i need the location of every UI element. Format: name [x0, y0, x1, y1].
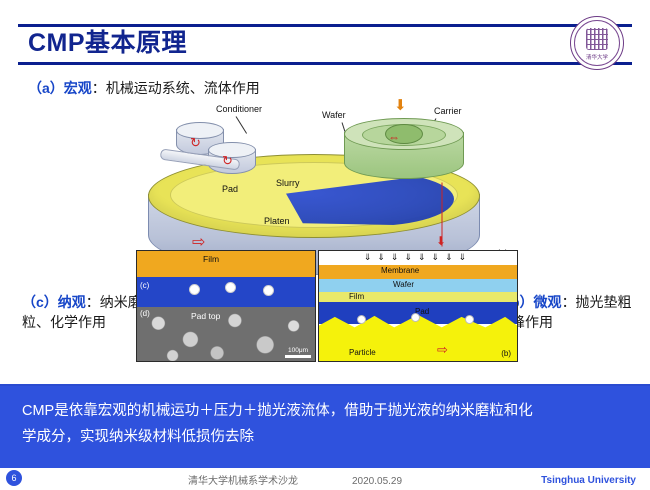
tsinghua-seal-icon: 清华大学	[570, 16, 624, 70]
panel-d-tag: (d)	[140, 309, 150, 318]
footer-university: Tsinghua University	[541, 475, 636, 486]
slurry-label: Slurry	[276, 178, 300, 188]
abrasive-particle	[411, 313, 420, 322]
down-force-arrow-icon: ⬇	[394, 96, 407, 114]
label-micro: （b）微观：抛光垫粗糙峰作用	[497, 292, 637, 332]
panel-c-slurry-layer	[137, 277, 315, 307]
page-number-badge: 6	[6, 470, 22, 486]
summary-line-1: CMP是依靠宏观的机械运功＋压力＋抛光液流体，借助于抛光液的纳米磨粒和化	[22, 398, 634, 424]
seal-inner: 清华大学	[574, 20, 620, 66]
callout-carrier: Carrier	[434, 106, 462, 116]
pad-top-label: Pad top	[191, 311, 220, 321]
rotation-arrow-1-icon: ↻	[190, 138, 201, 148]
carrier-assembly	[344, 118, 462, 178]
abrasive-particle	[465, 315, 474, 324]
pad-label: Pad	[222, 184, 238, 194]
membrane-label: Membrane	[381, 266, 419, 275]
pressure-arrows-icon: ⇓⇓⇓⇓⇓⇓⇓⇓	[319, 252, 517, 263]
panel-b-tag: (b)	[501, 349, 511, 358]
panel-c-film-layer	[137, 251, 315, 277]
wafer-layer	[319, 279, 517, 292]
panel-micro-image: ⇓⇓⇓⇓⇓⇓⇓⇓ Membrane Wafer Film Pad Particl…	[318, 250, 518, 362]
footer-date: 2020.05.29	[352, 476, 402, 487]
seal-text: 清华大学	[575, 55, 619, 62]
particle-label: Particle	[349, 348, 376, 357]
abrasive-particle	[189, 284, 200, 295]
pad-motion-arrow-icon: ⇨	[437, 345, 448, 355]
wafer-label: Wafer	[393, 280, 414, 289]
callout-wafer: Wafer	[322, 110, 346, 120]
abrasive-particle	[263, 285, 274, 296]
label-macro-text: ：机械运动系统、流体作用	[92, 80, 260, 96]
summary-text: CMP是依靠宏观的机械运功＋压力＋抛光液流体，借助于抛光液的纳米磨粒和化 学成分…	[22, 398, 634, 450]
carrier-motion-arrow-icon: ⇔	[388, 132, 400, 142]
panel-c-film-label: Film	[203, 254, 219, 264]
panel-nano-image: Film (c) Pad top (d) 100μm	[136, 250, 316, 362]
film-label: Film	[349, 292, 364, 301]
leader-conditioner	[236, 116, 247, 133]
zoom-arrow-icon: ⬇	[436, 236, 446, 246]
slide-root: CMP基本原理 清华大学 （a）宏观：机械运动系统、流体作用 （c）纳观：纳米磨…	[0, 0, 650, 490]
page-title: CMP基本原理	[28, 26, 187, 60]
abrasive-particle	[225, 282, 236, 293]
footer-event-name: 清华大学机械系学术沙龙	[188, 472, 298, 487]
scale-bar-icon	[285, 355, 311, 358]
platen-rotation-arrow-icon: ⇨	[192, 238, 205, 248]
label-nano: （c）纳观：纳米磨粒、化学作用	[22, 292, 142, 332]
abrasive-particle	[357, 315, 366, 324]
summary-line-2: 学成分，实现纳米级材料低损伤去除	[22, 424, 634, 450]
scale-bar-label: 100μm	[285, 347, 311, 358]
panel-c-tag: (c)	[140, 281, 149, 290]
scale-bar-text: 100μm	[288, 347, 308, 354]
platen-label: Platen	[264, 216, 290, 226]
callout-conditioner: Conditioner	[216, 104, 262, 114]
title-bottom-rule	[18, 62, 632, 65]
label-macro-prefix: （a）宏观	[28, 80, 92, 96]
rotation-arrow-2-icon: ↻	[222, 156, 233, 166]
label-nano-prefix: （c）纳观	[22, 294, 86, 310]
label-macro: （a）宏观：机械运动系统、流体作用	[28, 78, 260, 98]
